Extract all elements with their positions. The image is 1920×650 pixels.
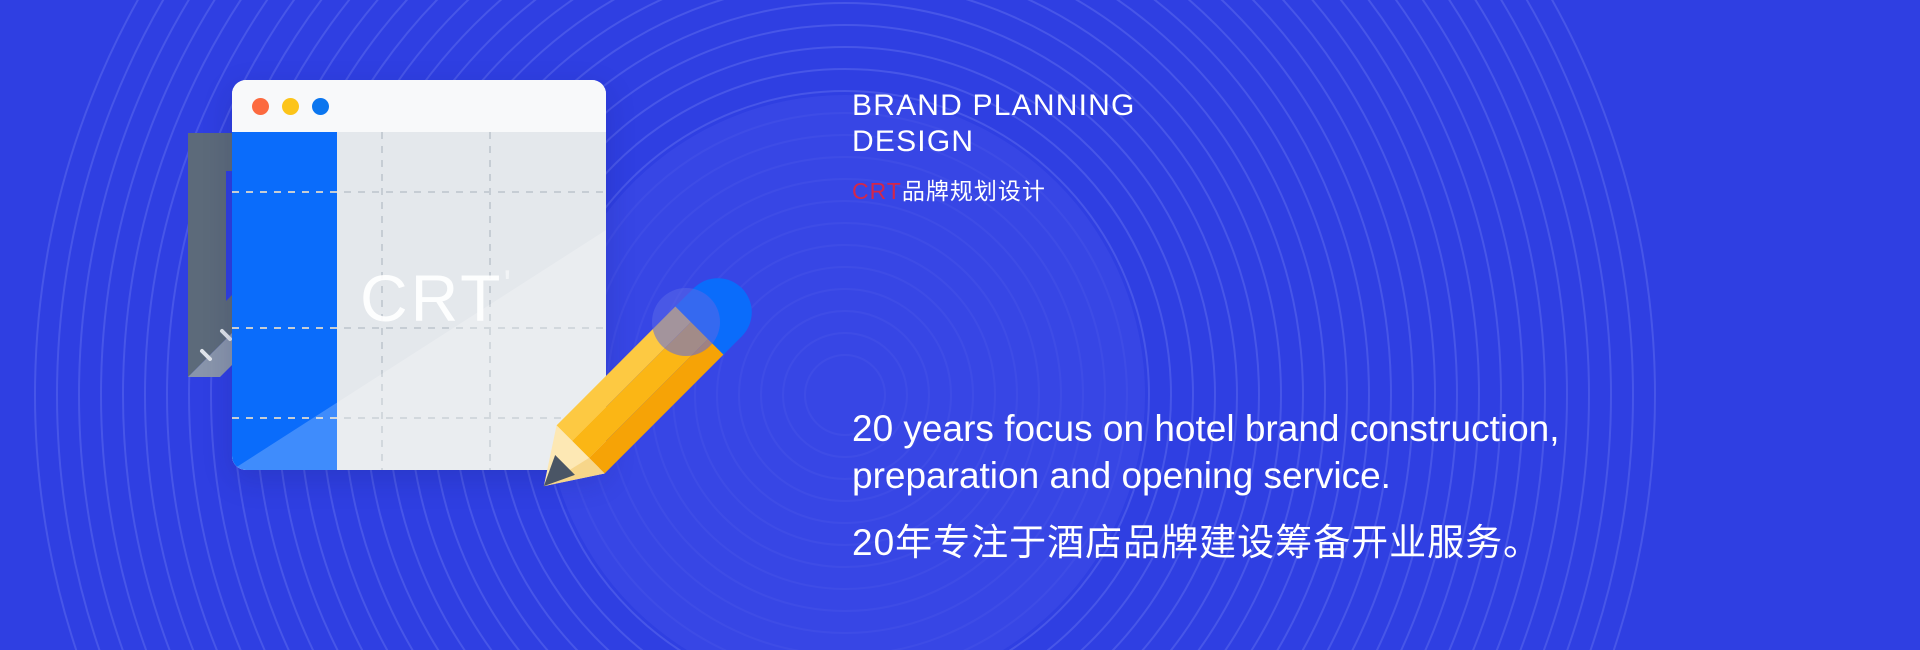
hero-illustration: CRT' xyxy=(180,60,880,600)
eyebrow-line-1: BRAND PLANNING xyxy=(852,88,1412,124)
maximize-dot[interactable] xyxy=(312,98,329,115)
eyebrow-line-2: DESIGN xyxy=(852,124,1412,160)
browser-title-bar xyxy=(232,80,606,132)
pencil-icon xyxy=(480,230,800,550)
brand-name: CRT xyxy=(852,178,902,204)
tagline-english-line-2: preparation and opening service. xyxy=(852,452,1682,499)
minimize-dot[interactable] xyxy=(282,98,299,115)
window-control-dots xyxy=(252,98,329,115)
hero-banner: CRT' xyxy=(0,0,1920,650)
eyebrow-subtitle: CRT品牌规划设计 xyxy=(852,172,1046,206)
eyebrow-heading: BRAND PLANNING DESIGN xyxy=(852,88,1412,160)
eyebrow-subtitle-text: 品牌规划设计 xyxy=(902,178,1046,204)
close-dot[interactable] xyxy=(252,98,269,115)
tagline-english: 20 years focus on hotel brand constructi… xyxy=(852,405,1682,500)
hero-copy: BRAND PLANNING DESIGN CRT品牌规划设计 20 years… xyxy=(852,0,1752,650)
tagline-english-line-1: 20 years focus on hotel brand constructi… xyxy=(852,405,1682,452)
tagline-chinese: 20年专注于酒店品牌建设筹备开业服务。 xyxy=(852,512,1541,566)
